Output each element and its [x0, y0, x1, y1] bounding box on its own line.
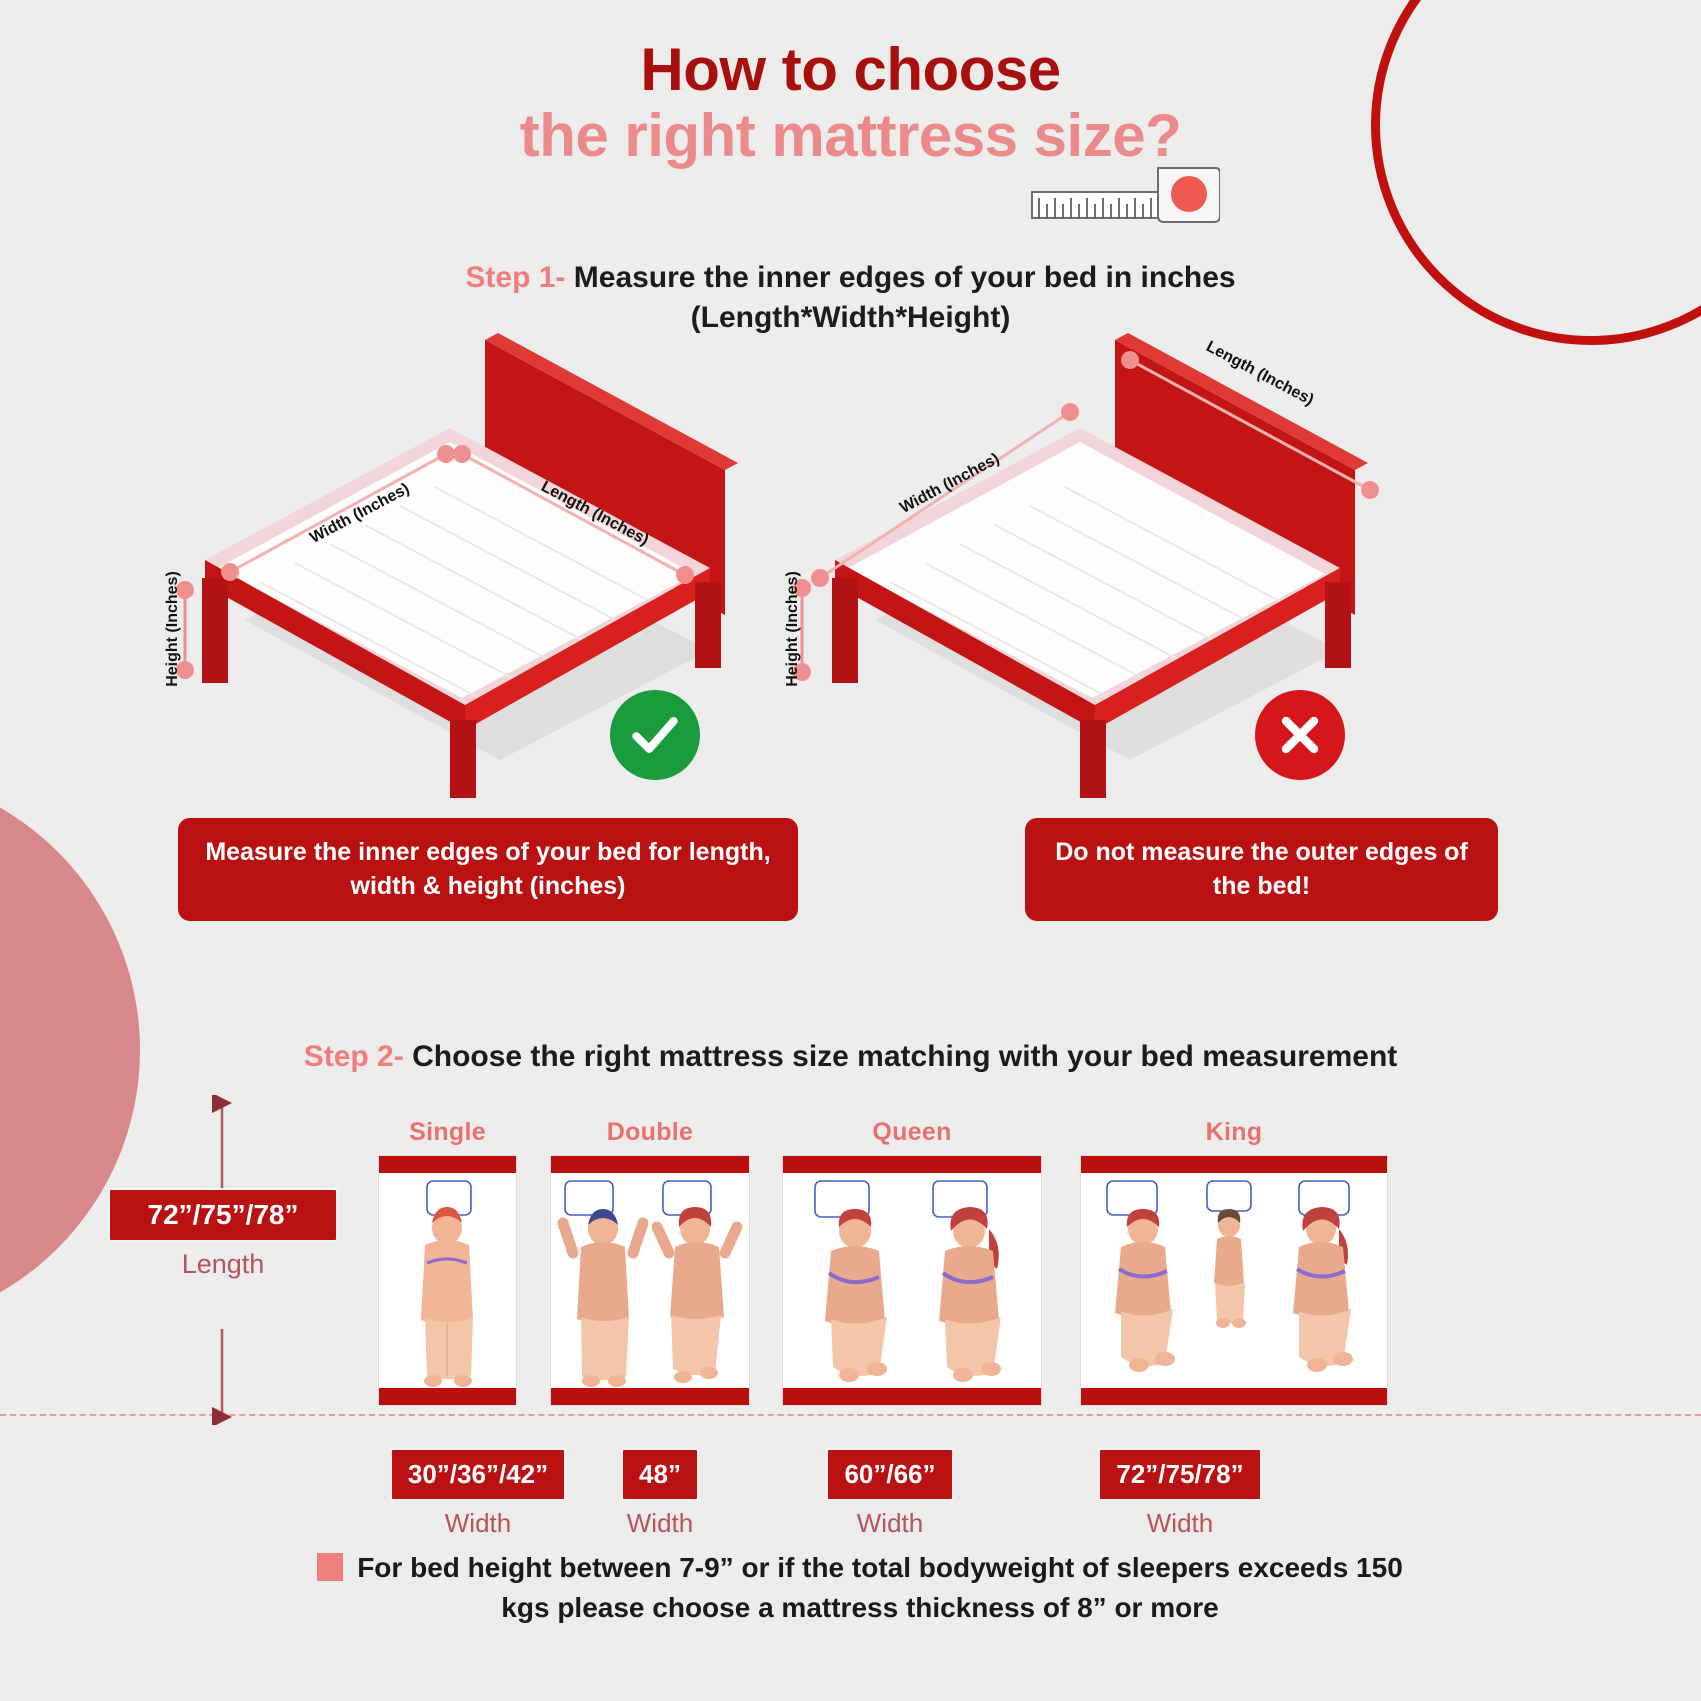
- size-card-single-headboard: [379, 1156, 516, 1173]
- size-card-king-headboard: [1081, 1156, 1387, 1173]
- size-card-king-frame: [1080, 1155, 1388, 1406]
- size-card-queen-title: Queen: [782, 1118, 1042, 1147]
- size-card-queen[interactable]: Queen: [782, 1118, 1042, 1406]
- width-indicator-single: 30”/36”/42” Width: [378, 1448, 578, 1539]
- width-label-double: Width: [560, 1508, 760, 1539]
- step-1-text: Measure the inner edges of your bed in i…: [574, 261, 1236, 294]
- sleeper-illustration-queen: [783, 1173, 1040, 1388]
- bed-left-height-label: Height (Inches): [164, 571, 182, 687]
- size-card-double[interactable]: Double: [550, 1118, 750, 1406]
- banner-incorrect: Do not measure the outer edges of the be…: [1025, 818, 1498, 921]
- sleeper-illustration-king: [1081, 1173, 1386, 1388]
- size-card-single-body: [379, 1173, 516, 1388]
- footer-note-line-1: For bed height between 7-9” or if the to…: [357, 1552, 1403, 1583]
- footer-note: For bed height between 7-9” or if the to…: [150, 1548, 1570, 1628]
- size-card-single-frame: [378, 1155, 517, 1406]
- size-card-double-title: Double: [550, 1118, 750, 1147]
- width-label-queen: Width: [790, 1508, 990, 1539]
- sleeper-illustration-single: [379, 1173, 515, 1388]
- title-line-2: the right mattress size?: [0, 101, 1701, 170]
- size-card-king[interactable]: King: [1080, 1118, 1388, 1406]
- size-card-single[interactable]: Single: [378, 1118, 517, 1406]
- banner-correct: Measure the inner edges of your bed for …: [178, 818, 798, 921]
- width-value-single: 30”/36”/42”: [390, 1448, 566, 1501]
- length-value: 72”/75”/78”: [108, 1188, 338, 1242]
- bed-right-height-label: Height (Inches): [784, 571, 802, 687]
- size-card-queen-body: [783, 1173, 1041, 1388]
- cross-icon: [1272, 707, 1328, 763]
- check-icon: [627, 707, 683, 763]
- tape-measure-icon: [1030, 150, 1220, 240]
- width-value-double: 48”: [621, 1448, 699, 1501]
- size-card-queen-frame: [782, 1155, 1042, 1406]
- width-indicator-king: 72”/75/78” Width: [1075, 1448, 1285, 1539]
- width-indicator-double: 48” Width: [560, 1448, 760, 1539]
- size-card-double-frame: [550, 1155, 750, 1406]
- width-value-king: 72”/75/78”: [1098, 1448, 1261, 1501]
- size-card-king-body: [1081, 1173, 1387, 1388]
- size-card-single-footboard: [379, 1388, 516, 1405]
- width-label-single: Width: [378, 1508, 578, 1539]
- step-2-text: Choose the right mattress size matching …: [412, 1040, 1397, 1073]
- incorrect-badge: [1255, 690, 1345, 780]
- width-indicator-queen: 60”/66” Width: [790, 1448, 990, 1539]
- size-card-double-body: [551, 1173, 749, 1388]
- footer-note-line-2: kgs please choose a mattress thickness o…: [150, 1588, 1570, 1628]
- correct-badge: [610, 690, 700, 780]
- size-card-queen-headboard: [783, 1156, 1041, 1173]
- length-indicator: 72”/75”/78” Length: [108, 1188, 338, 1280]
- size-card-double-headboard: [551, 1156, 749, 1173]
- width-value-queen: 60”/66”: [826, 1448, 953, 1501]
- sleeper-illustration-double: [551, 1173, 748, 1388]
- step-2-tag: Step 2-: [304, 1040, 404, 1073]
- size-card-king-title: King: [1080, 1118, 1388, 1147]
- size-card-single-title: Single: [378, 1118, 517, 1147]
- step-2-heading: Step 2- Choose the right mattress size m…: [0, 1040, 1701, 1074]
- mattress-size-cards: Single: [400, 1118, 1400, 1448]
- size-card-double-footboard: [551, 1388, 749, 1405]
- page-title: How to choose the right mattress size?: [0, 38, 1701, 170]
- size-card-king-footboard: [1081, 1388, 1387, 1405]
- infographic-canvas: How to choose the right mattress size? S…: [0, 0, 1701, 1701]
- width-label-king: Width: [1075, 1508, 1285, 1539]
- step-1-tag: Step 1-: [465, 261, 565, 294]
- title-line-1: How to choose: [0, 38, 1701, 101]
- note-bullet-icon: [317, 1553, 343, 1581]
- size-card-queen-footboard: [783, 1388, 1041, 1405]
- length-label: Length: [108, 1249, 338, 1280]
